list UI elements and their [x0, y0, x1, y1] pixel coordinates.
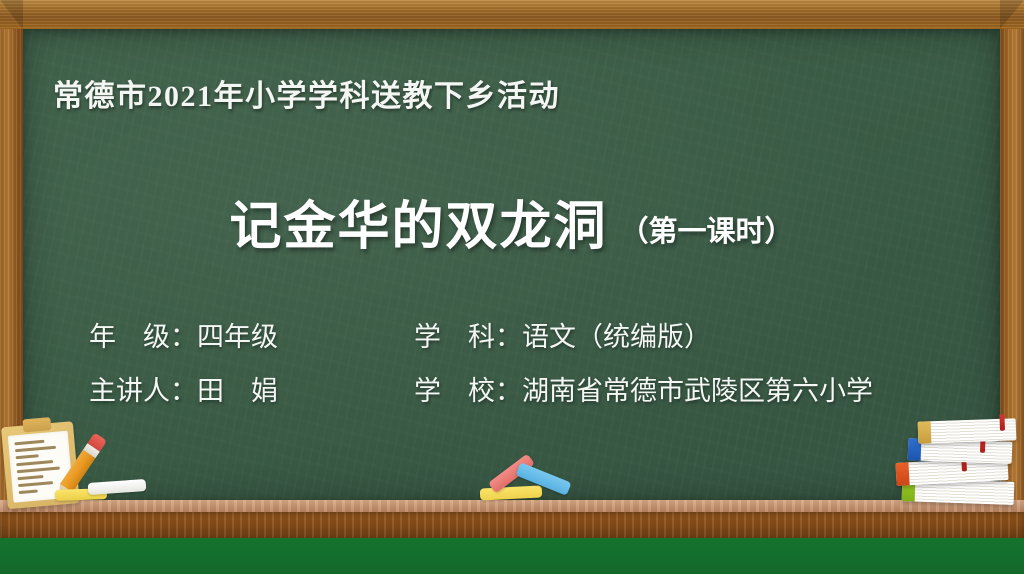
frame-mitre-top-right [1000, 0, 1024, 29]
book-spine [895, 462, 909, 486]
bookmark-icon [999, 415, 1005, 431]
info-row-presenter: 主讲人： 田 娟 学 校： 湖南省常德市武陵区第六小学 [89, 364, 960, 418]
info-value-presenter: 田 娟 [197, 364, 278, 418]
lesson-session-label: （第一课时） [620, 208, 794, 250]
frame-mitre-top-left [0, 0, 23, 29]
event-subtitle: 常德市2021年小学学科送教下乡活动 [53, 71, 560, 115]
info-field-subject: 学 科： 语文（统编版） [414, 310, 711, 364]
paper-line [16, 460, 54, 466]
book-spine [918, 421, 932, 443]
info-value-grade: 四年级 [197, 310, 278, 364]
slide-canvas: 常德市2021年小学学科送教下乡活动 记金华的双龙洞 （第一课时） 年 级： 四… [0, 0, 1024, 574]
paper-line [17, 475, 44, 480]
book-gold [918, 418, 1017, 443]
info-label-subject: 学 科： [414, 310, 522, 364]
frame-rail-top [0, 0, 1024, 29]
info-label-school: 学 校： [414, 364, 522, 418]
paper-line [18, 481, 53, 487]
info-value-subject: 语文（统编版） [522, 310, 711, 364]
paper-line [17, 466, 60, 473]
paper-line [16, 454, 39, 459]
info-label-grade: 年 级： [89, 310, 197, 364]
lesson-title: 记金华的双龙洞 [229, 184, 607, 259]
info-row-grade: 年 级： 四年级 学 科： 语文（统编版） [89, 310, 960, 364]
paper-line [15, 446, 56, 453]
chalk-ledge [0, 500, 1024, 538]
clipboard-clip [22, 417, 51, 432]
info-field-presenter: 主讲人： 田 娟 [89, 364, 414, 418]
chalk-ledge-surface [0, 500, 1024, 512]
paper-line [19, 489, 38, 494]
info-field-school: 学 校： 湖南省常德市武陵区第六小学 [414, 364, 873, 418]
paper-line [14, 440, 44, 446]
info-value-school: 湖南省常德市武陵区第六小学 [522, 364, 873, 418]
lesson-title-row: 记金华的双龙洞 （第一课时） [23, 184, 1000, 259]
chalkboard: 常德市2021年小学学科送教下乡活动 记金华的双龙洞 （第一课时） 年 级： 四… [23, 29, 1000, 500]
chalkboard-content: 常德市2021年小学学科送教下乡活动 记金华的双龙洞 （第一课时） 年 级： 四… [23, 29, 1000, 500]
lesson-info-block: 年 级： 四年级 学 科： 语文（统编版） 主讲人： 田 娟 学 校： [89, 310, 960, 418]
info-label-presenter: 主讲人： [89, 364, 197, 418]
book-stack-icon [896, 420, 1020, 504]
chalk-ledge-front [0, 512, 1024, 538]
floor-background [0, 532, 1024, 574]
info-field-grade: 年 级： 四年级 [89, 310, 414, 364]
